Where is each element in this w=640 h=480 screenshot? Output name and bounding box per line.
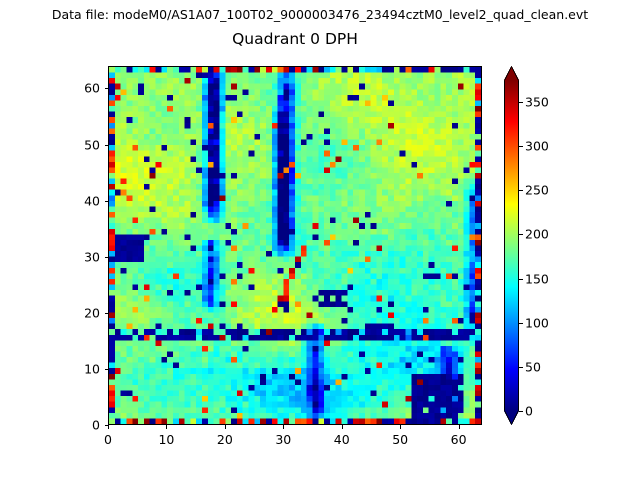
y-tick-label: 10	[0, 361, 100, 376]
x-tick-label: 10	[158, 432, 174, 447]
x-tick-mark	[225, 425, 226, 429]
colorbar-tick-mark	[519, 279, 523, 280]
heatmap-axes[interactable]	[108, 66, 482, 425]
x-tick-mark	[108, 425, 109, 429]
colorbar-tick-mark	[519, 146, 523, 147]
x-tick-mark	[400, 425, 401, 429]
colorbar-tick-mark	[519, 367, 523, 368]
x-tick-mark	[342, 425, 343, 429]
colorbar-tick-label: 300	[525, 139, 549, 154]
y-tick-mark	[105, 145, 109, 146]
figure-canvas: Data file: modeM0/AS1A07_100T02_90000034…	[0, 0, 640, 480]
y-tick-label: 60	[0, 81, 100, 96]
x-tick-mark	[283, 425, 284, 429]
colorbar-tick-label: 150	[525, 271, 549, 286]
y-tick-label: 50	[0, 137, 100, 152]
x-tick-label: 40	[334, 432, 350, 447]
colorbar-tick-mark	[519, 102, 523, 103]
x-tick-label: 20	[217, 432, 233, 447]
x-tick-label: 30	[275, 432, 291, 447]
colorbar-tick-mark	[519, 323, 523, 324]
colorbar-tick-label: 0	[525, 404, 533, 419]
colorbar-tick-label: 100	[525, 315, 549, 330]
y-tick-label: 0	[0, 418, 100, 433]
x-tick-mark	[459, 425, 460, 429]
x-tick-label: 0	[104, 432, 112, 447]
x-tick-label: 60	[451, 432, 467, 447]
y-tick-mark	[105, 313, 109, 314]
colorbar-tick-mark	[519, 190, 523, 191]
colorbar-tick-label: 200	[525, 227, 549, 242]
y-tick-mark	[105, 369, 109, 370]
y-tick-mark	[105, 201, 109, 202]
y-tick-mark	[105, 257, 109, 258]
x-tick-label: 50	[392, 432, 408, 447]
colorbar-tick-mark	[519, 234, 523, 235]
colorbar-tick-label: 250	[525, 183, 549, 198]
colorbar-gradient[interactable]	[504, 66, 519, 425]
page-title: Quadrant 0 DPH	[108, 30, 482, 48]
data-file-label: Data file: modeM0/AS1A07_100T02_90000034…	[0, 7, 640, 22]
y-tick-label: 30	[0, 249, 100, 264]
colorbar-tick-label: 50	[525, 359, 541, 374]
colorbar-tick-label: 350	[525, 95, 549, 110]
x-tick-mark	[166, 425, 167, 429]
colorbar[interactable]	[504, 66, 519, 425]
y-tick-label: 20	[0, 305, 100, 320]
heatmap-image[interactable]	[109, 67, 481, 424]
y-tick-mark	[105, 425, 109, 426]
colorbar-tick-mark	[519, 411, 523, 412]
y-tick-mark	[105, 88, 109, 89]
y-tick-label: 40	[0, 193, 100, 208]
